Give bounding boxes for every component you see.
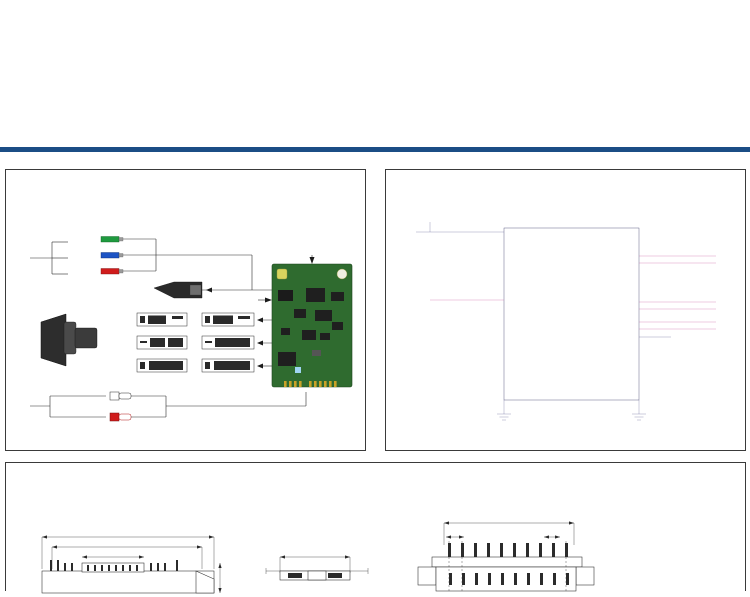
panel-connection-diagram: [5, 169, 366, 451]
ground-symbol: [497, 400, 511, 420]
video-connector-drawing: [24, 527, 239, 597]
pcie-net-labels: [639, 256, 716, 329]
panel-pin-define: [385, 169, 746, 451]
pin-define-schematic: [386, 170, 747, 452]
panel-connector-dimensions: [5, 462, 746, 591]
video-connector-side-drawing: [258, 541, 378, 597]
pcb-card-image: [252, 255, 352, 406]
title-divider: [0, 147, 750, 152]
connection-diagram-artwork: [6, 170, 367, 452]
audio-connector-drawing: [404, 511, 599, 597]
audio-branch: [30, 392, 306, 421]
page-header: [0, 0, 750, 152]
vga-dvi-plug: [41, 314, 97, 366]
connector-pinout-icons: [137, 313, 254, 372]
rca-component-plugs: [101, 237, 252, 275]
ground-symbol: [632, 400, 646, 420]
